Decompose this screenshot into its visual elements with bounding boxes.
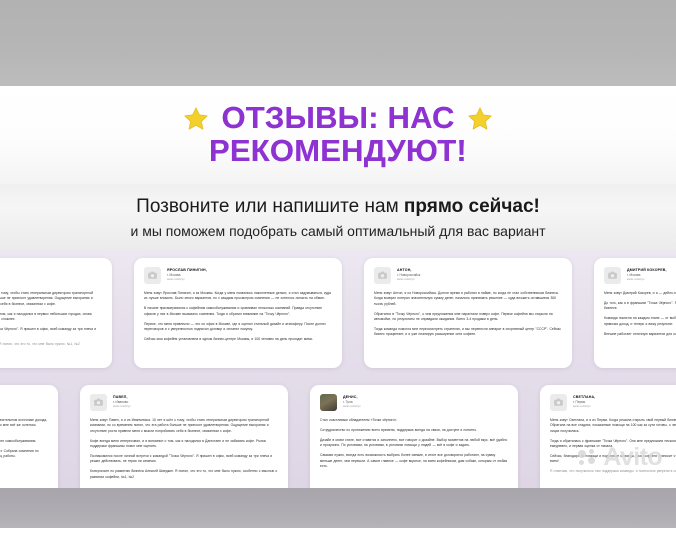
reviewer-source: avito.ru/otzyv [343,405,361,409]
camera-placeholder-icon [374,267,391,284]
reviewer-name: СВЕТЛАНА, [573,395,595,399]
review-paragraph: В начале присматривался к кофейням самоо… [144,306,332,317]
review-paragraph: Меня зовут Павел, я и из Иванчевска. 10 … [0,291,102,307]
hero-banner: ОТЗЫВЫ: НАС РЕКОМЕНДУЮТ! [0,86,676,184]
reviewer-source: avito.ru/otzyv [573,405,595,409]
cta-main-line: Позвоните или напишите нам прямо сейчас! [136,196,540,218]
review-paragraph: Кофе всегда меня интересовал, и я вспомн… [90,439,278,450]
cta-sub-line: и мы поможем подобрать самый оптимальный… [131,223,546,239]
reviewer-source: avito.ru/otzyv [167,278,207,282]
review-card[interactable]: ЯРОСЛАВ ПИНИГИН,г. Москваavito.ru/otzyvМ… [134,258,342,368]
camera-placeholder-icon [550,394,567,411]
review-card[interactable]: ДМИТРИЙ КОКОРЕВ,г. Москваavito.ru/otzyvМ… [594,258,676,368]
review-card-body: Меня зовут Антон, я из Новороссийска. До… [374,291,562,338]
cta-main-strong: прямо сейчас! [404,196,540,217]
reviewer-identity: АНТОН,г. Новороссийскavito.ru/otzyv [397,267,420,282]
avito-watermark: Avito [578,445,662,470]
reviewer-name: ДМИТРИЙ КОКОРЕВ, [627,268,667,272]
letterbox-top-bar [0,0,676,86]
review-paragraph: Самыми нужно, всегда есть возможность вы… [320,453,508,469]
hero-title-row-1: ОТЗЫВЫ: НАС [183,102,492,135]
review-card-body: Меня зовут Ярослав Пинигин, я из Москвы.… [144,291,332,342]
avito-wordmark: Avito [603,445,662,470]
review-paragraph: Поиск подходящей ниши занял у меня пару … [0,439,48,444]
review-paragraph: На первом этапе мне помогли, что команда… [0,449,48,460]
star-icon-right [467,106,493,132]
reviewer-source: avito.ru/otzyv [397,278,420,282]
review-paragraph: До того, как я в франшизе "Точка Чёрного… [604,301,676,312]
review-paragraph: Команда помогла на каждом этапе — от выб… [604,316,676,327]
reviews-collage: ПАВЕЛ,г. Ивановоavito.ru/otzyvМеня зовут… [0,250,676,488]
review-paragraph: Познакомился после личной встречи с кома… [0,327,102,338]
star-icon-left [183,106,209,132]
review-paragraph: Меня зовут Дмитрий Кокорев, и я — дейло-… [604,291,676,296]
review-card-body: Меня зовут Ольга, я из Королёва. Работал… [0,418,48,469]
reviewer-name: ЯРОСЛАВ ПИНИГИН, [167,268,207,272]
review-paragraph: Меня зовут Павел, я и из Иванчевска. 10 … [90,418,278,434]
review-paragraph: Дизайн в моем стиле, все ставится и запо… [320,438,508,449]
camera-placeholder-icon [90,394,107,411]
hero-title-line-2: РЕКОМЕНДУЮТ! [209,135,467,168]
review-card[interactable]: ДЕНИС,г. Тулаavito.ru/otzyvСтал счастлив… [310,385,518,488]
reviewer-name: ПАВЕЛ, [113,395,131,399]
review-paragraph: Стал счастливым обладателем «Точки чёрно… [320,418,508,423]
review-card-body: Меня зовут Павел, я и из Иванчевска. 10 … [0,291,102,348]
review-paragraph: Меня зовут Светлана, и я из Перми. Когда… [550,418,676,434]
hero-title-row-2: РЕКОМЕНДУЮТ! [209,135,467,168]
review-card-body: Меня зовут Павел, я и из Иванчевска. 10 … [90,418,278,480]
reviewer-identity: ДМИТРИЙ КОКОРЕВ,г. Москваavito.ru/otzyv [627,267,667,282]
reviewer-identity: ПАВЕЛ,г. Ивановоavito.ru/otzyv [113,394,131,409]
letterbox-bottom-white-strip [0,528,676,540]
camera-placeholder-icon [144,267,161,284]
review-paragraph: Меня зовут Ярослав Пинигин, я из Москвы.… [144,291,332,302]
review-card-header: ДМИТРИЙ КОКОРЕВ,г. Москваavito.ru/otzyv [604,267,676,284]
review-card-body: Стал счастливым обладателем «Точки чёрно… [320,418,508,469]
review-card[interactable]: ОЛЬГА,г. Королёвavito.ru/otzyvМеня зовут… [0,385,58,488]
reviewer-name: АНТОН, [397,268,420,272]
reviewer-source: avito.ru/otzyv [627,278,667,282]
screenshot-stage: ОТЗЫВЫ: НАС РЕКОМЕНДУЮТ! Позвоните или н… [0,0,676,540]
review-card-header: ДЕНИС,г. Тулаavito.ru/otzyv [320,394,508,411]
review-paragraph: Обратился в "Точку Чёрного", о чем предл… [374,312,562,323]
review-paragraph: Меня зовут Ольга, я из Королёва. Работал… [0,418,48,434]
cta-main-prefix: Позвоните или напишите нам [136,196,404,217]
review-card[interactable]: АНТОН,г. Новороссийскavito.ru/otzyvМеня … [364,258,572,368]
reviewer-name: ДЕНИС, [343,395,361,399]
avito-logo-icon [578,449,598,467]
review-card-header: АНТОН,г. Новороссийскavito.ru/otzyv [374,267,562,284]
reviewer-source: avito.ru/otzyv [113,405,131,409]
review-paragraph: Сейчас моя кофейня установлена в одном б… [144,337,332,342]
hero-title-line-1: ОТЗЫВЫ: НАС [221,102,454,135]
review-paragraph: Первое, что меня привлекло — это их офис… [144,322,332,333]
review-footnote: Консультант по развитию бизнеса Алексей … [0,342,102,347]
review-card-header: ПАВЕЛ,г. Ивановоavito.ru/otzyv [0,267,102,284]
reviewer-identity: ДЕНИС,г. Тулаavito.ru/otzyv [343,394,361,409]
reviews-row-2: ОЛЬГА,г. Королёвavito.ru/otzyvМеня зовут… [0,385,676,488]
review-card[interactable]: ПАВЕЛ,г. Ивановоavito.ru/otzyvМеня зовут… [80,385,288,488]
review-paragraph: Консультант по развитию бизнеса Алексей … [90,469,278,480]
review-card-header: СВЕТЛАНА,г. Пермьavito.ru/otzyv [550,394,676,411]
review-paragraph: Внешне работает отличную вариантов для к… [604,332,676,337]
review-paragraph: Тогда команда помогла мне переосмотреть … [374,327,562,338]
reviewer-identity: СВЕТЛАНА,г. Пермьavito.ru/otzyv [573,394,595,409]
reviews-row-1: ПАВЕЛ,г. Ивановоavito.ru/otzyvМеня зовут… [0,258,676,368]
review-card-header: ЯРОСЛАВ ПИНИГИН,г. Москваavito.ru/otzyv [144,267,332,284]
review-card[interactable]: ПАВЕЛ,г. Ивановоavito.ru/otzyvМеня зовут… [0,258,112,368]
avatar [320,394,337,411]
review-paragraph: Долгое время меня интересовала, и воспом… [0,312,102,323]
review-paragraph: Сотрудничество по протяжению всего време… [320,428,508,433]
review-paragraph: Познакомился после личной встречи с кома… [90,454,278,465]
review-card-body: Меня зовут Дмитрий Кокорев, и я — дейло-… [604,291,676,337]
review-card-header: ПАВЕЛ,г. Ивановоavito.ru/otzyv [90,394,278,411]
camera-placeholder-icon [604,267,621,284]
reviewer-identity: ЯРОСЛАВ ПИНИГИН,г. Москваavito.ru/otzyv [167,267,207,282]
cta-banner: Позвоните или напишите нам прямо сейчас!… [0,184,676,250]
review-paragraph: Меня зовут Антон, я из Новороссийска. До… [374,291,562,307]
review-paragraph: Сейчас наш кофе-поинт работает, и мы про… [0,464,48,469]
review-card[interactable]: СВЕТЛАНА,г. Пермьavito.ru/otzyvМеня зову… [540,385,676,488]
review-card-header: ОЛЬГА,г. Королёвavito.ru/otzyv [0,394,48,411]
